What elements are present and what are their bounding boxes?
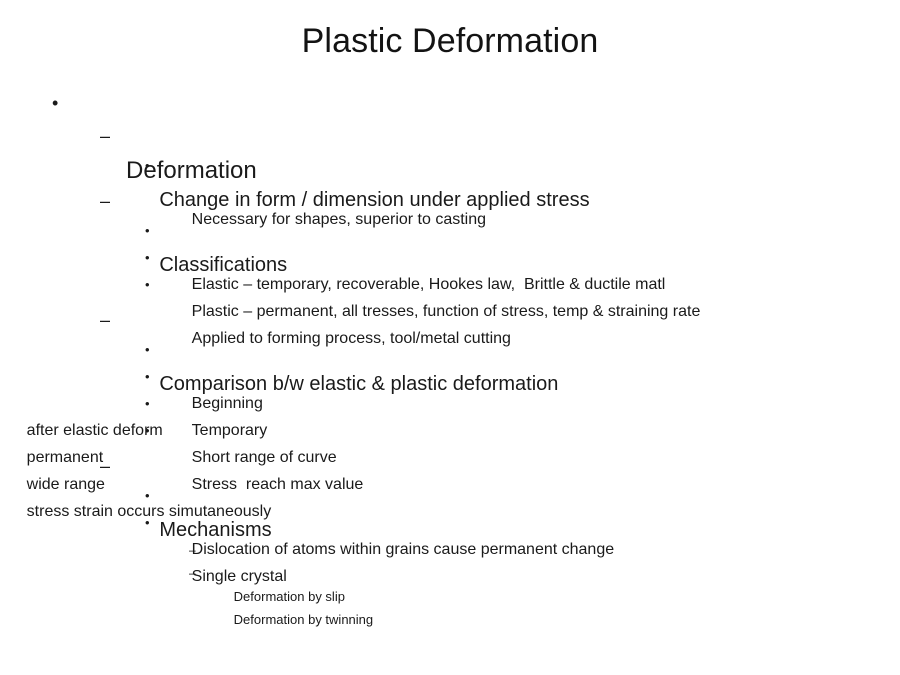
dash-icon: – (100, 185, 110, 217)
bullet-level3-applied-to-forming: • Applied to forming process, tool/metal… (0, 271, 900, 298)
bullet-level4-deformation-by-slip: – Deformation by slip (0, 539, 900, 562)
bullet-dot-icon: • (145, 271, 150, 298)
dash-icon: – (100, 304, 110, 336)
bullet-dot-icon: • (145, 336, 150, 363)
bullet-level3-dislocation: • Dislocation of atoms within grains cau… (0, 482, 900, 509)
dash-icon: – (100, 450, 110, 482)
bullet-level2-change-in-form: – Change in form / dimension under appli… (0, 120, 900, 152)
slide-title: Plastic Deformation (0, 20, 900, 62)
bullet-level2-mechanisms: – Mechanisms (0, 450, 900, 482)
bullet-level3-plastic: • Plastic – permanent, all tresses, func… (0, 244, 900, 271)
slide-body: • Deformation – Change in form / dimensi… (0, 86, 900, 585)
bullet-level1-deformation: • Deformation (0, 86, 900, 120)
bullet-level3-necessary-for-shapes: • Necessary for shapes, superior to cast… (0, 152, 900, 179)
bullet-level4-deformation-by-twinning: – Deformation by twinning (0, 562, 900, 585)
comparison-row-stress-max: • Stress reach max value stress strain o… (0, 417, 900, 444)
comparison-row-beginning: • Beginning after elastic deform (0, 336, 900, 363)
comparison-row-temporary: • Temporary permanent (0, 363, 900, 390)
dash-icon: – (189, 539, 196, 562)
bullet-level2-classifications: – Classifications (0, 185, 900, 217)
bullet-dot-icon: • (145, 152, 150, 179)
bullet-dot-icon: • (145, 217, 150, 244)
bullet-dot-icon: • (52, 86, 58, 120)
bullet-dot-icon: • (145, 390, 150, 417)
bullet-dot-icon: • (145, 509, 150, 536)
bullet-level3-elastic: • Elastic – temporary, recoverable, Hook… (0, 217, 900, 244)
bullet-dot-icon: • (145, 482, 150, 509)
dash-icon: – (189, 562, 196, 585)
bullet-level4-label: Deformation by twinning (234, 608, 373, 631)
bullet-dot-icon: • (145, 244, 150, 271)
bullet-dot-icon: • (145, 363, 150, 390)
comparison-row-short-range: • Short range of curve wide range (0, 390, 900, 417)
bullet-level3-single-crystal: • Single crystal (0, 509, 900, 536)
bullet-level4-label: Deformation by slip (234, 585, 345, 608)
bullet-level2-comparison: – Comparison b/w elastic & plastic defor… (0, 304, 900, 336)
slide-canvas: Plastic Deformation • Deformation – Chan… (0, 0, 900, 675)
bullet-dot-icon: • (145, 417, 150, 444)
dash-icon: – (100, 120, 110, 152)
